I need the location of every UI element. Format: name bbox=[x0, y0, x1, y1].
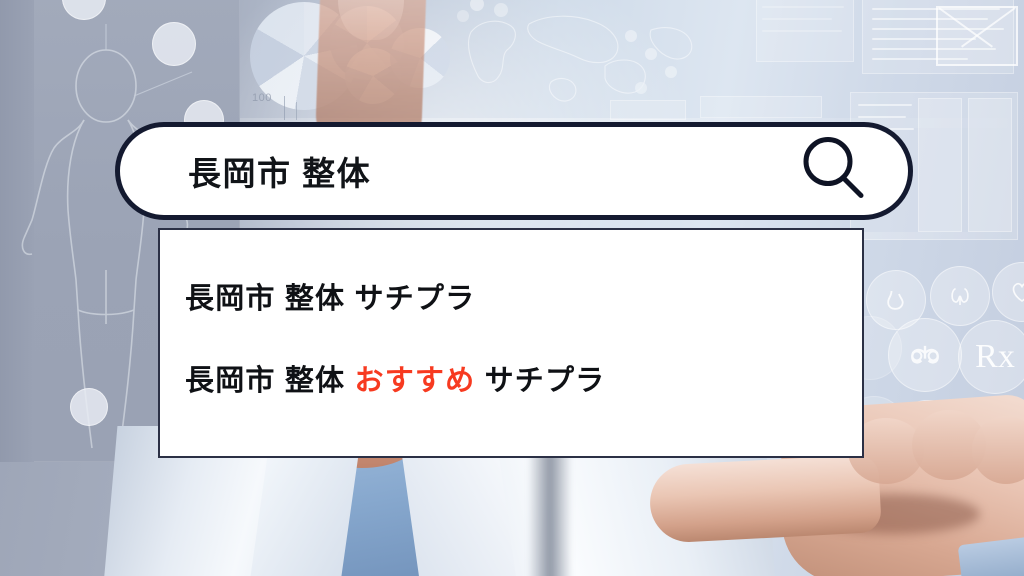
document-line bbox=[858, 104, 912, 106]
rx-symbol: Rx bbox=[975, 340, 1015, 374]
document-icon bbox=[610, 100, 686, 120]
screenshot-stage: 100 bbox=[0, 0, 1024, 576]
suggestion-item-2[interactable]: 長岡市 整体 おすすめ サチプラ bbox=[160, 338, 862, 418]
envelope-icon bbox=[936, 6, 1018, 66]
search-box[interactable]: 長岡市 整体 bbox=[115, 122, 913, 220]
document-icon bbox=[968, 98, 1012, 232]
suggestion-item-1[interactable]: 長岡市 整体 サチプラ bbox=[160, 256, 862, 336]
document-line bbox=[762, 18, 832, 20]
index-finger bbox=[648, 454, 882, 544]
search-input[interactable]: 長岡市 整体 bbox=[188, 147, 371, 195]
suggestion-suffix: サチプラ bbox=[475, 357, 605, 399]
search-icon[interactable] bbox=[798, 136, 870, 207]
suggestion-text: 長岡市 整体 サチプラ bbox=[185, 275, 475, 317]
document-icon bbox=[918, 98, 962, 232]
document-line bbox=[762, 30, 842, 32]
document-line bbox=[858, 116, 906, 118]
infographic-node bbox=[70, 388, 108, 426]
chart-axis-tick bbox=[296, 102, 297, 120]
chart-axis-label: 100 bbox=[252, 92, 272, 104]
suggestion-prefix: 長岡市 整体 bbox=[185, 357, 355, 399]
infographic-node bbox=[152, 22, 196, 66]
kidney-icon bbox=[930, 266, 990, 326]
chart-axis-tick bbox=[284, 96, 285, 120]
document-icon bbox=[700, 96, 822, 118]
suggestion-highlight: おすすめ bbox=[355, 357, 476, 399]
rx-icon: Rx bbox=[958, 320, 1024, 394]
search-suggestions-panel: 長岡市 整体 サチプラ 長岡市 整体 おすすめ サチプラ bbox=[158, 228, 864, 458]
document-line bbox=[762, 6, 844, 8]
